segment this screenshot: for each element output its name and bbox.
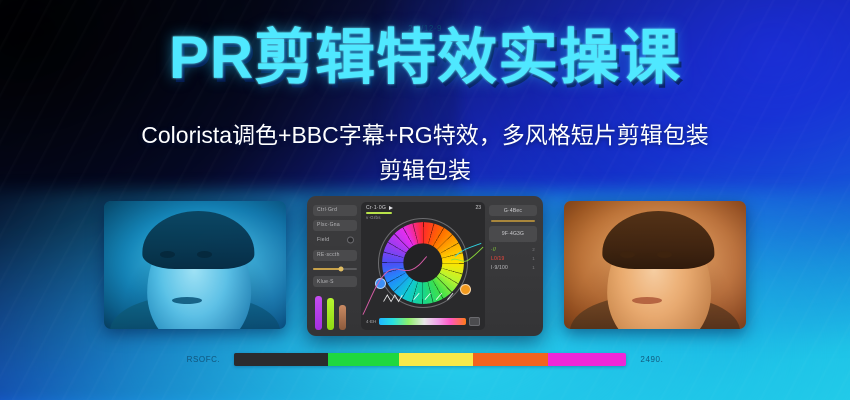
timeline-left-label: RSOFC. <box>187 355 221 364</box>
mouth-shape <box>172 297 202 304</box>
right-readout-list: ·// 2 L0/19 1 I·9/100 1 <box>489 247 537 271</box>
control-chip-3-label: RE·sccth <box>317 252 340 258</box>
control-chip-3[interactable]: RE·sccth <box>313 250 357 261</box>
viewer-accent-underline <box>366 212 392 214</box>
subtitle-line-1: Colorista调色+BBC字幕+RG特效，多风格短片剪辑包装 <box>0 120 850 151</box>
readout-row-2: I·9/100 1 <box>491 265 535 271</box>
right-chip-0-label: G·4Bec <box>504 208 522 214</box>
right-chip-1-label: 9F·4G3G <box>502 231 524 237</box>
control-chip-4[interactable]: Klue·S <box>313 276 357 287</box>
readout-row-0: ·// 2 <box>491 247 535 253</box>
control-chip-1[interactable]: Plsc·Gna <box>313 220 357 231</box>
viewer-counter: 23 <box>475 205 481 211</box>
control-chip-1-label: Plsc·Gna <box>317 222 340 228</box>
cool-portrait-inner <box>104 201 286 329</box>
eye-right <box>197 251 212 258</box>
strip-left-label: 4·EH <box>366 319 376 324</box>
readout-row-2-label: I·9/100 <box>491 265 508 271</box>
readout-row-0-label: ·// <box>491 247 496 253</box>
control-chip-0-label: Ctrl·Grd <box>317 207 337 213</box>
eye-right <box>657 251 672 258</box>
control-chip-4-label: Klue·S <box>317 279 334 285</box>
segment-magenta[interactable] <box>548 353 626 366</box>
readout-row-1: L0/19 1 <box>491 256 535 262</box>
timeline-strip: RSOFC. 2490. <box>0 342 850 376</box>
shadow-handle[interactable] <box>375 278 386 289</box>
green-bar[interactable] <box>327 298 334 330</box>
control-chip-2-label: Field <box>317 237 329 243</box>
color-grading-app-panel: Ctrl·Grd Plsc·Gna Field RE·sccth <box>307 196 543 336</box>
subtitle-line-2: 剪辑包装 <box>0 155 850 186</box>
segment-green[interactable] <box>328 353 399 366</box>
brown-bar[interactable] <box>339 305 346 330</box>
amount-slider[interactable] <box>313 265 357 273</box>
timeline-track[interactable] <box>234 353 626 366</box>
viewer-header: Cr·1·0G 23 <box>361 202 485 211</box>
right-portrait-photo <box>564 201 746 329</box>
hue-strip-row: 4·EH <box>366 317 480 326</box>
right-chip-1[interactable]: 9F·4G3G <box>489 226 537 242</box>
app-body: Ctrl·Grd Plsc·Gna Field RE·sccth <box>313 202 537 330</box>
subtitle-area: Colorista调色+BBC字幕+RG特效，多风格短片剪辑包装 剪辑包装 <box>0 120 850 186</box>
eye-left <box>160 251 175 258</box>
segment-orange[interactable] <box>473 353 547 366</box>
left-portrait-photo <box>104 201 286 329</box>
color-wheel[interactable] <box>382 222 464 304</box>
course-promo-banner: PR剪辑特效实操课 Colorista调色+BBC字幕+RG特效，多风格短片剪辑… <box>0 0 850 400</box>
hue-gradient-strip[interactable] <box>379 318 466 325</box>
right-divider <box>491 220 535 222</box>
viewer-title-group: Cr·1·0G <box>366 205 393 211</box>
media-row: Ctrl·Grd Plsc·Gna Field RE·sccth <box>0 196 850 336</box>
hair-shape <box>142 211 254 269</box>
knob-icon[interactable] <box>347 237 354 244</box>
readout-row-0-tick: 2 <box>532 247 535 252</box>
app-left-column: Ctrl·Grd Plsc·Gna Field RE·sccth <box>313 202 357 330</box>
segment-black[interactable] <box>234 353 328 366</box>
control-chip-2[interactable]: Field <box>313 235 357 246</box>
viewer-title: Cr·1·0G <box>366 205 386 211</box>
warm-portrait-inner <box>564 201 746 329</box>
right-chip-0[interactable]: G·4Bec <box>489 205 537 216</box>
readout-row-1-label: L0/19 <box>491 256 505 262</box>
app-viewer: Cr·1·0G 23 v·Grbs <box>361 202 485 330</box>
eye-left <box>620 251 635 258</box>
strip-options-button[interactable] <box>469 317 480 326</box>
readout-row-2-tick: 1 <box>532 265 535 270</box>
segment-yellow[interactable] <box>399 353 473 366</box>
level-bars <box>313 294 357 330</box>
magenta-bar[interactable] <box>315 296 322 330</box>
control-chip-0[interactable]: Ctrl·Grd <box>313 205 357 216</box>
app-right-column: G·4Bec 9F·4G3G ·// 2 L0/19 1 <box>489 202 537 330</box>
mouth-shape <box>632 297 662 304</box>
hair-shape <box>602 211 714 269</box>
timeline-right-label: 2490. <box>640 355 663 364</box>
page-title: PR剪辑特效实操课 <box>169 28 681 88</box>
play-icon[interactable] <box>389 206 393 210</box>
readout-row-1-tick: 1 <box>532 256 535 261</box>
headline-area: PR剪辑特效实操课 <box>0 28 850 88</box>
highlight-handle[interactable] <box>460 284 471 295</box>
slider-knob[interactable] <box>339 266 344 271</box>
